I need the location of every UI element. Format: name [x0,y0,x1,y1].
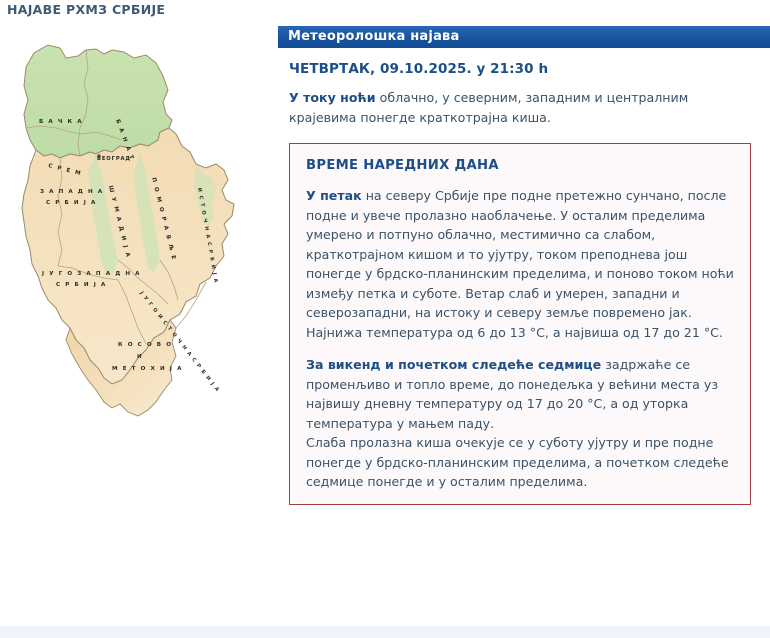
tonight-forecast-paragraph: У току ноћи облачно, у северним, западни… [289,88,741,127]
friday-forecast-paragraph: У петак на северу Србије пре подне прете… [306,186,734,342]
map-label-jugozapadna-2: С Р Б И Ј А [56,282,107,288]
outlook-heading: ВРЕМЕ НАРЕДНИХ ДАНА [306,158,750,173]
serbia-map: Б А Ч К А Б А Н А Т С Р Е М БЕОГРАД З А … [0,28,278,458]
map-label-zapadna-srbija-2: С Р Б И Ј А [46,200,97,206]
tonight-lead: У току ноћи [289,90,376,105]
map-label-backa: Б А Ч К А [39,119,83,125]
outlook-box: ВРЕМЕ НАРЕДНИХ ДАНА У петак на северу Ср… [289,143,751,505]
forecast-dateline: ЧЕТВРТАК, 09.10.2025. у 21:30 h [289,61,770,77]
friday-lead: У петак [306,188,362,203]
map-label-metohija: М Е Т О Х И Ј А [112,366,183,372]
serbia-map-svg: Б А Ч К А Б А Н А Т С Р Е М БЕОГРАД З А … [0,28,278,458]
page-title: НАЈАВЕ РХМЗ СРБИЈЕ [7,2,165,17]
weekend-lead: За викенд и почетком следеће седмице [306,357,601,372]
weekend-rain-paragraph: Слаба пролазна киша очекује се у суботу … [306,433,734,492]
forecast-content: Метеоролошка најава ЧЕТВРТАК, 09.10.2025… [278,26,770,505]
weekend-forecast-paragraph: За викенд и почетком следеће седмице зад… [306,355,734,433]
friday-text: на северу Србије пре подне претежно сунч… [306,188,734,340]
map-label-i: И [137,354,143,360]
map-label-zapadna-srbija-1: З А П А Д Н А [40,189,104,195]
map-label-beograd: БЕОГРАД [97,156,131,162]
map-label-kosovo: К О С О В О [118,342,173,348]
map-region-vojvodina [24,45,172,158]
section-header-bar: Метеоролошка најава [278,26,770,48]
bottom-strip [0,626,770,638]
map-label-jugozapadna-1: Ј У Г О З А П А Д Н А [41,271,141,277]
